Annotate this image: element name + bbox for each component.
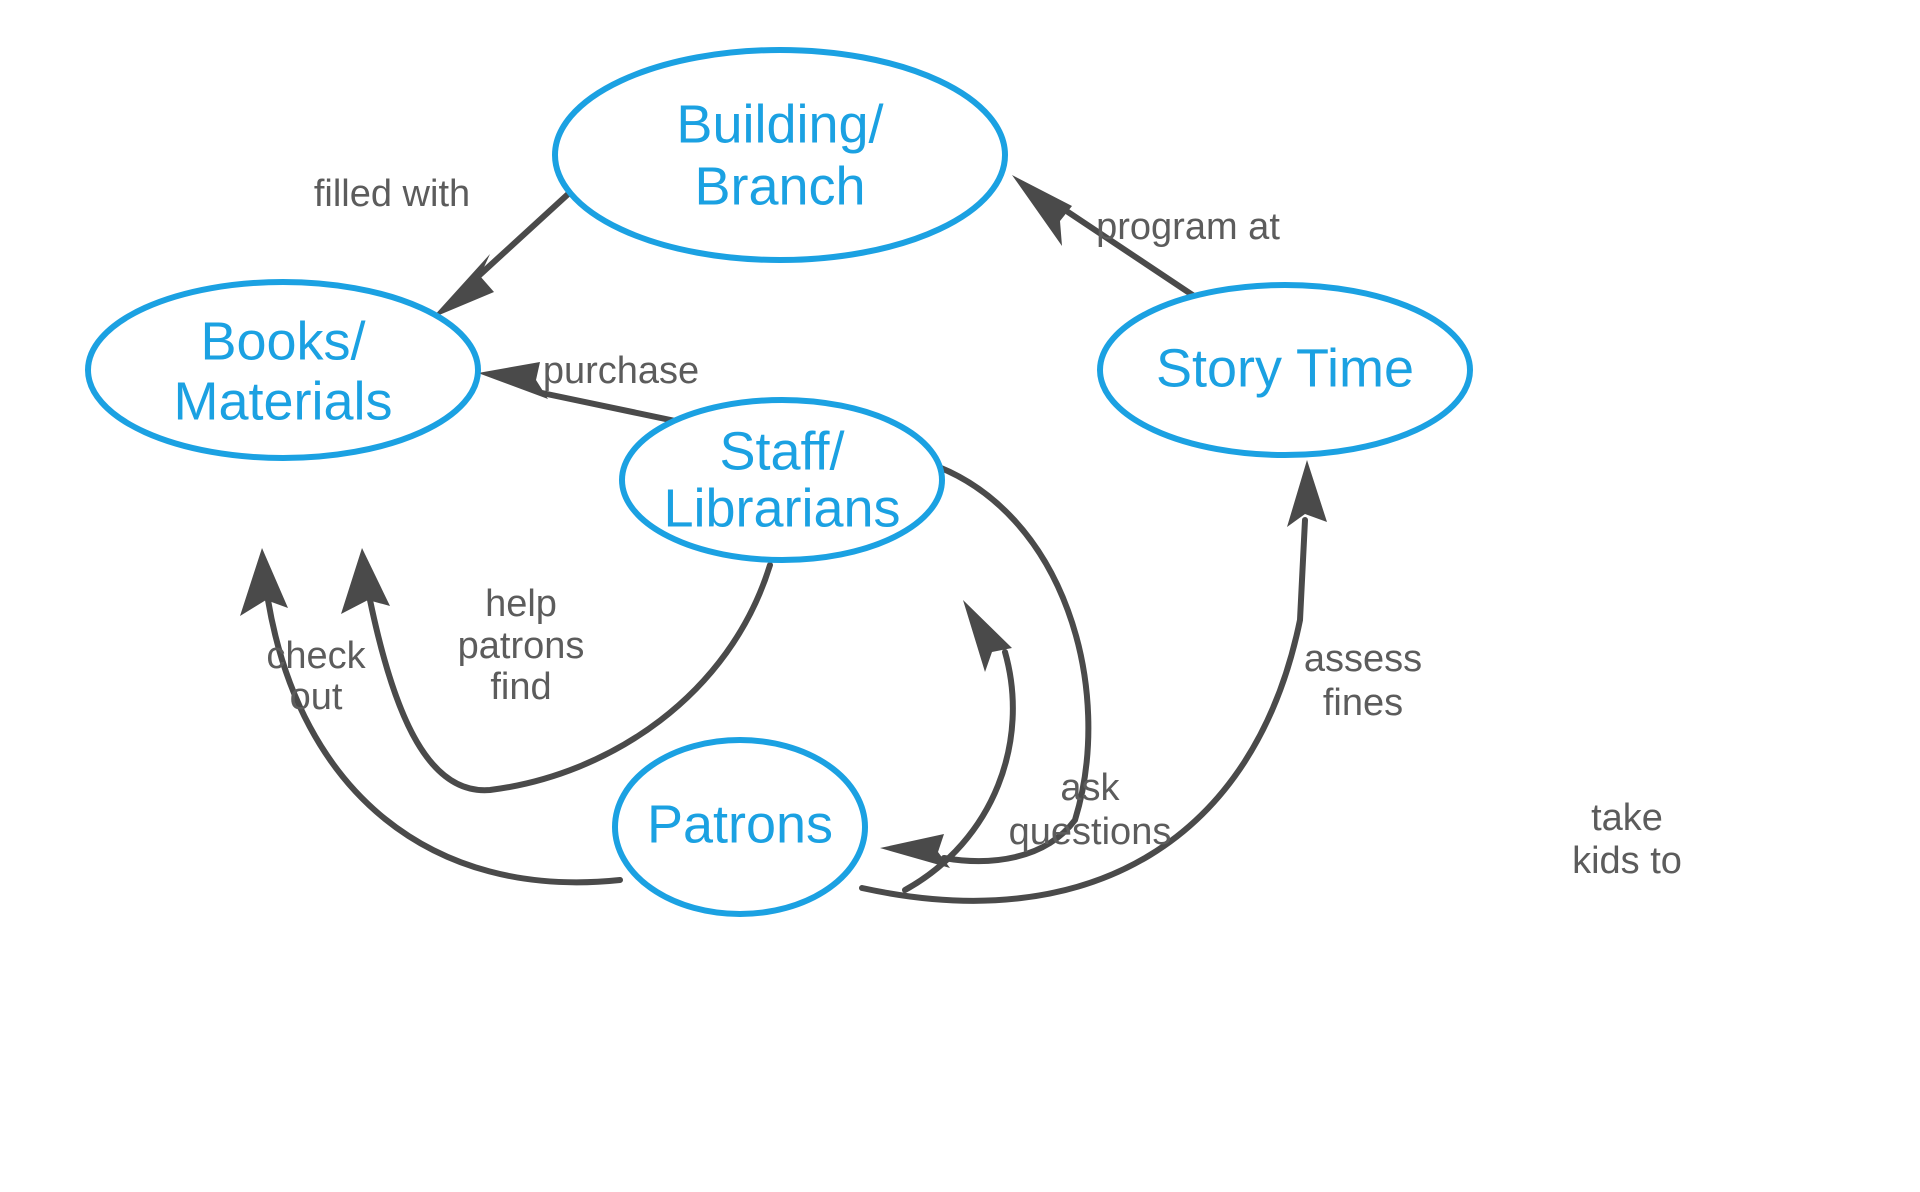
- edge-label-purchase: purchase: [543, 350, 699, 392]
- edge-label-filled-with: filled with: [314, 173, 470, 215]
- node-label-line2: Branch: [694, 156, 865, 216]
- node-building-branch[interactable]: Building/ Branch: [555, 50, 1005, 260]
- arrow-head-icon: [240, 548, 288, 616]
- edge-label-line2: patrons: [458, 625, 585, 667]
- edge-label-ask-questions: ask questions: [1009, 767, 1172, 853]
- edge-label-line2: questions: [1009, 811, 1172, 853]
- edge-label-line2: kids to: [1572, 840, 1682, 882]
- arrow-head-icon: [341, 548, 390, 614]
- edge-label-take-kids-to: take kids to: [1572, 797, 1682, 882]
- node-label-line1: Books/: [200, 311, 365, 371]
- arrow-head-icon: [1012, 175, 1072, 246]
- edge-label-line1: check: [266, 635, 366, 677]
- edge-label-line2: fines: [1323, 682, 1403, 724]
- edge-label-line1: ask: [1060, 767, 1120, 809]
- edge-label-check-out: check out: [266, 635, 366, 718]
- node-label-line1: Staff/: [719, 421, 844, 481]
- node-label-line1: Story Time: [1156, 338, 1414, 398]
- edge-label-program-at: program at: [1096, 206, 1280, 248]
- node-label-line2: Librarians: [663, 478, 900, 538]
- node-label-line1: Patrons: [647, 794, 833, 854]
- arrow-head-icon: [432, 254, 494, 318]
- node-ellipse[interactable]: [555, 50, 1005, 260]
- edge-label-help-patrons-find: help patrons find: [458, 583, 585, 708]
- edge-label-assess-fines: assess fines: [1304, 638, 1422, 724]
- arrow-head-icon: [478, 362, 548, 399]
- edge-label-line1: assess: [1304, 638, 1422, 680]
- node-staff-librarians[interactable]: Staff/ Librarians: [622, 400, 942, 560]
- edge-line: [472, 185, 578, 282]
- concept-map-diagram: Building/ Branch Books/ Materials Story …: [0, 0, 1920, 1192]
- node-label-line1: Building/: [676, 94, 883, 154]
- arrow-head-icon: [1287, 460, 1327, 527]
- edge-label-line3: find: [490, 666, 551, 708]
- edge-label-line1: take: [1591, 797, 1663, 839]
- node-story-time[interactable]: Story Time: [1100, 285, 1470, 455]
- node-label-line2: Materials: [173, 371, 392, 431]
- node-patrons[interactable]: Patrons: [615, 740, 865, 914]
- node-books-materials[interactable]: Books/ Materials: [88, 282, 478, 458]
- edge-label-line1: help: [485, 583, 557, 625]
- edge-label-line2: out: [290, 676, 343, 718]
- arrow-head-icon: [880, 834, 950, 868]
- diagram-canvas: Building/ Branch Books/ Materials Story …: [0, 0, 1920, 1192]
